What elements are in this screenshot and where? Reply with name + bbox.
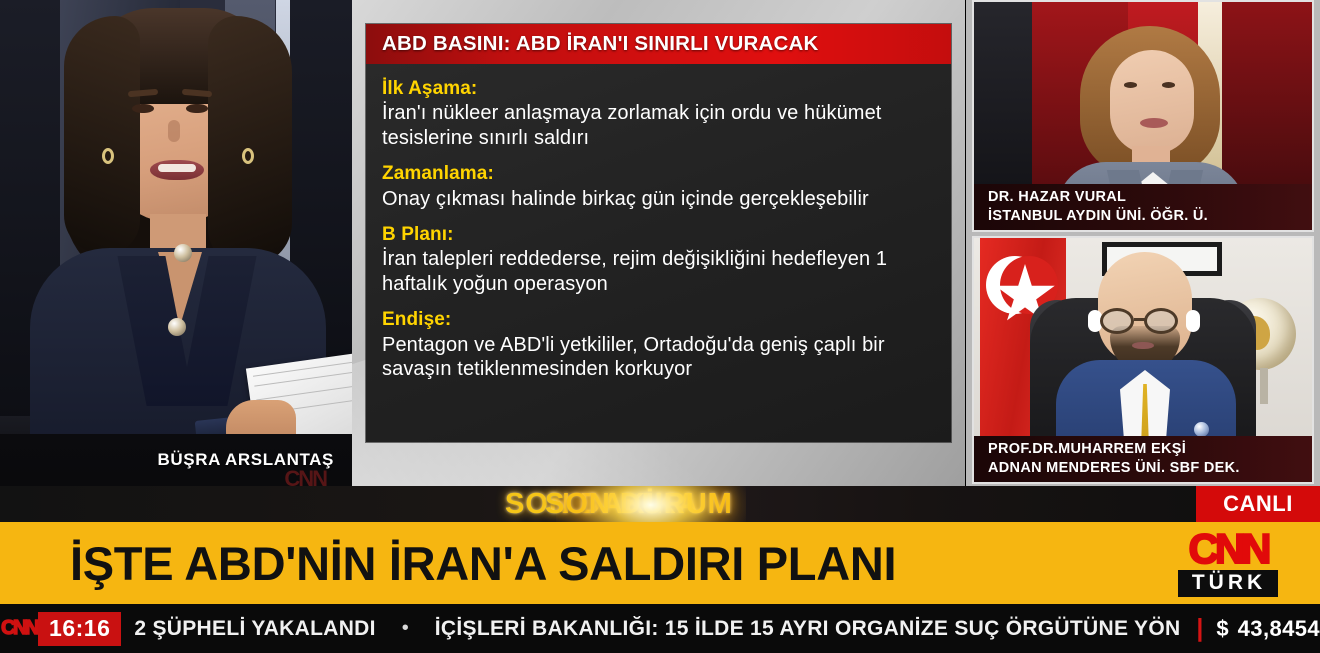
globe-stand	[1260, 368, 1268, 404]
guest-video-pane-2: PROF.DR.MUHARREM EKŞİ ADNAN MENDERES ÜNİ…	[974, 238, 1312, 482]
cnn-turk-logo: CNN TÜRK	[1148, 522, 1308, 604]
infoboard-label-1: İlk Aşama:	[382, 78, 935, 100]
live-badge-label: CANLI	[1223, 491, 1293, 517]
guest1-title-label: İSTANBUL AYDIN ÜNİ. ÖĞR. Ü.	[988, 207, 1312, 226]
anchor-brooch-bottom	[168, 318, 186, 336]
breaking-strip-glow	[556, 486, 746, 522]
infoboard-block-3: B Planı: İran talepleri reddederse, reji…	[382, 224, 935, 296]
news-ticker: CNN 16:16 2 ŞÜPHELİ YAKALANDI • İÇİŞLERİ…	[0, 604, 1320, 653]
guest2-name-label: PROF.DR.MUHARREM EKŞİ	[988, 440, 1312, 459]
guest2-eyeglass-right	[1144, 308, 1178, 334]
infoboard-text-4: Pentagon ve ABD'li yetkililer, Ortadoğu'…	[382, 333, 935, 382]
anchor-nose	[168, 120, 180, 142]
guest1-lips	[1140, 118, 1168, 128]
infoboard-block-2: Zamanlama: Onay çıkması halinde birkaç g…	[382, 163, 935, 211]
guest2-eyeglass-bridge	[1134, 318, 1146, 321]
turk-logo-text: TÜRK	[1178, 570, 1278, 597]
ticker-bar-separator: |	[1196, 614, 1203, 643]
currency-symbol: $	[1216, 616, 1228, 642]
infoboard-pane: ABD BASINI: ABD İRAN'I SINIRLI VURACAK İ…	[352, 0, 965, 486]
anchor-hair-right	[208, 16, 292, 266]
infoboard-label-3: B Planı:	[382, 224, 935, 246]
anchor-figure	[46, 8, 308, 486]
ticker-headline-1: 2 ŞÜPHELİ YAKALANDI	[134, 617, 375, 641]
guest1-face	[1110, 50, 1194, 154]
infoboard-body: İlk Aşama: İran'ı nükleer anlaşmaya zorl…	[366, 64, 951, 381]
live-badge: CANLI	[1196, 486, 1320, 522]
infoboard-label-2: Zamanlama:	[382, 163, 935, 185]
guest2-nameplate: PROF.DR.MUHARREM EKŞİ ADNAN MENDERES ÜNİ…	[974, 436, 1312, 482]
guest2-title-label: ADNAN MENDERES ÜNİ. SBF DEK.	[988, 459, 1312, 478]
anchor-earring-left	[102, 148, 114, 164]
guest-video-pane-1: DR. HAZAR VURAL İSTANBUL AYDIN ÜNİ. ÖĞR.…	[974, 2, 1312, 230]
anchor-teeth	[158, 164, 196, 172]
infoboard-text-1: İran'ı nükleer anlaşmaya zorlamak için o…	[382, 101, 935, 150]
guest2-lapel-pin	[1194, 422, 1209, 437]
video-row: CNN BÜŞRA ARSLANTAŞ ABD BASINI: ABD İRAN…	[0, 0, 1320, 486]
ticker-cnn-mark: CNN	[1, 617, 37, 640]
anchor-eye-left	[132, 104, 154, 113]
infoboard-block-4: Endişe: Pentagon ve ABD'li yetkililer, O…	[382, 309, 935, 381]
guest1-name-label: DR. HAZAR VURAL	[988, 188, 1312, 207]
ticker-cnn-logo: CNN	[0, 604, 38, 653]
infoboard: ABD BASINI: ABD İRAN'I SINIRLI VURACAK İ…	[366, 24, 951, 442]
ticker-bullet-separator: •	[402, 617, 409, 640]
anchor-hair-left	[64, 16, 140, 254]
headline-text: İŞTE ABD'NİN İRAN'A SALDIRI PLANI	[70, 536, 896, 591]
guest1-eye-right	[1162, 82, 1175, 88]
anchor-nameplate: CNN BÜŞRA ARSLANTAŞ	[0, 434, 352, 486]
infoboard-text-3: İran talepleri reddederse, rejim değişik…	[382, 247, 935, 296]
infoboard-title: ABD BASINI: ABD İRAN'I SINIRLI VURACAK	[382, 32, 819, 56]
infoboard-label-4: Endişe:	[382, 309, 935, 331]
broadcast-screen: CNN BÜŞRA ARSLANTAŞ ABD BASINI: ABD İRAN…	[0, 0, 1320, 653]
currency-rate: 43,8454	[1238, 616, 1320, 642]
infoboard-block-1: İlk Aşama: İran'ı nükleer anlaşmaya zorl…	[382, 78, 935, 150]
anchor-video-pane: CNN BÜŞRA ARSLANTAŞ	[0, 0, 352, 486]
anchor-eye-right	[186, 104, 208, 113]
infoboard-title-bar: ABD BASINI: ABD İRAN'I SINIRLI VURACAK	[366, 24, 951, 64]
guest2-eyeglass-left	[1100, 308, 1134, 334]
ticker-time-badge: 16:16	[38, 612, 121, 646]
anchor-brooch-top	[174, 244, 192, 262]
guest2-mouth	[1132, 342, 1154, 349]
guest-video-column: DR. HAZAR VURAL İSTANBUL AYDIN ÜNİ. ÖĞR.…	[966, 0, 1320, 486]
guest1-nameplate: DR. HAZAR VURAL İSTANBUL AYDIN ÜNİ. ÖĞR.…	[974, 184, 1312, 230]
guest2-earbud-right	[1186, 310, 1200, 332]
infoboard-text-2: Onay çıkması halinde birkaç gün içinde g…	[382, 187, 935, 211]
ticker-headline-2: İÇİŞLERİ BAKANLIĞI: 15 İLDE 15 AYRI ORGA…	[435, 617, 1181, 641]
guest1-eye-left	[1124, 82, 1137, 88]
cnn-logo-text: CNN	[1189, 530, 1268, 568]
anchor-earring-right	[242, 148, 254, 164]
ghost-cnn-watermark: CNN	[284, 466, 326, 486]
breaking-news-strip: SON DAKİKA SON DURUM	[0, 486, 1320, 522]
headline-bar: İŞTE ABD'NİN İRAN'A SALDIRI PLANI CNN TÜ…	[0, 522, 1320, 604]
